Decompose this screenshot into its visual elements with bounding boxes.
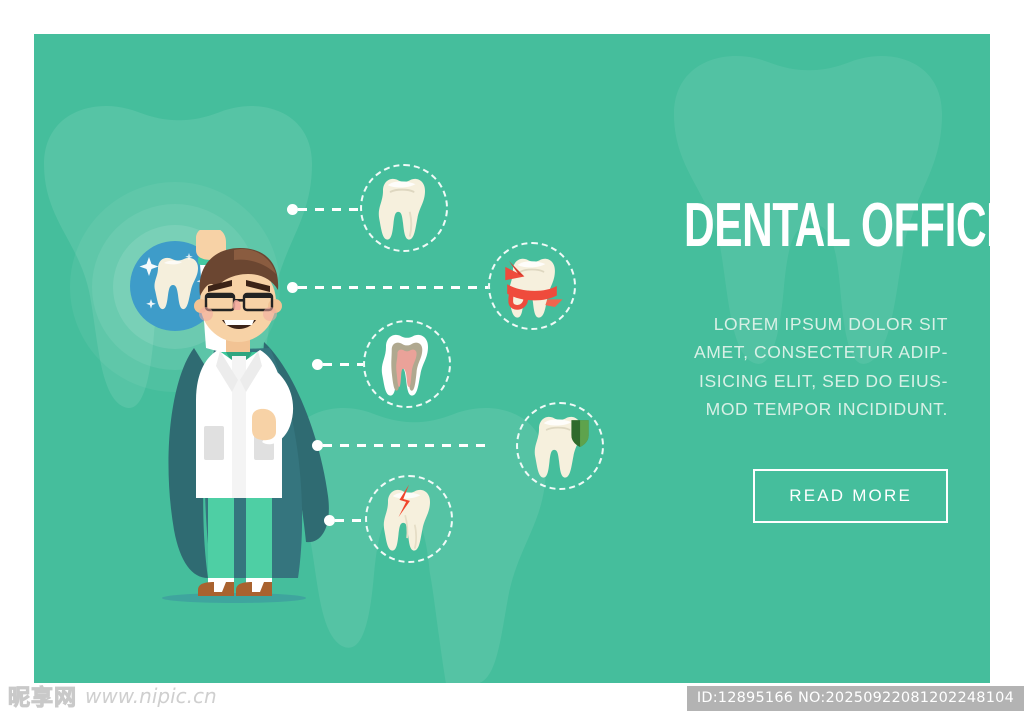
read-more-button[interactable]: READ MORE — [753, 469, 948, 523]
tooth-ribbon-icon — [490, 244, 574, 328]
connector-dot-2 — [287, 282, 298, 293]
body-line-4: MOD TEMPOR INCIDIDUNT. — [706, 399, 948, 419]
connector-line-1 — [298, 208, 360, 211]
tooth-healthy-icon — [362, 166, 446, 250]
banner-canvas: DENTAL OFFICE LOREM IPSUM DOLOR SIT AMET… — [34, 34, 990, 683]
connector-dot-5 — [324, 515, 335, 526]
body-line-1: LOREM IPSUM DOLOR SIT — [714, 314, 948, 334]
connector-dot-1 — [287, 204, 298, 215]
connector-line-2 — [298, 286, 488, 289]
connector-line-5 — [335, 519, 365, 522]
node-section-tooth[interactable] — [363, 320, 451, 408]
node-healthy-tooth[interactable] — [360, 164, 448, 252]
connector-line-3 — [323, 363, 363, 366]
page-title: DENTAL OFFICE — [684, 194, 948, 257]
node-cracked-tooth[interactable] — [365, 475, 453, 563]
tooth-cracked-icon — [367, 477, 451, 561]
image-id-badge: ID:12895166 NO:20250922081202248104 — [687, 686, 1024, 711]
connector-line-4 — [323, 444, 491, 447]
watermark-url: www.nipic.cn — [85, 684, 217, 708]
site-watermark: 昵享网 www.nipic.cn — [8, 681, 217, 711]
body-line-2: AMET, CONSECTETUR ADIP- — [694, 342, 948, 362]
superhero-dentist-character — [122, 230, 382, 630]
tooth-crosssection-icon — [365, 322, 449, 406]
watermark-logo-text: 昵享网 — [8, 680, 77, 712]
node-shield-tooth[interactable] — [516, 402, 604, 490]
body-paragraph: LOREM IPSUM DOLOR SIT AMET, CONSECTETUR … — [618, 310, 948, 423]
content-column: DENTAL OFFICE LOREM IPSUM DOLOR SIT AMET… — [618, 199, 948, 523]
tooth-shield-icon — [518, 404, 602, 488]
connector-dot-4 — [312, 440, 323, 451]
body-line-3: ISICING ELIT, SED DO EIUS- — [699, 371, 948, 391]
connector-dot-3 — [312, 359, 323, 370]
node-ribbon-tooth[interactable] — [488, 242, 576, 330]
